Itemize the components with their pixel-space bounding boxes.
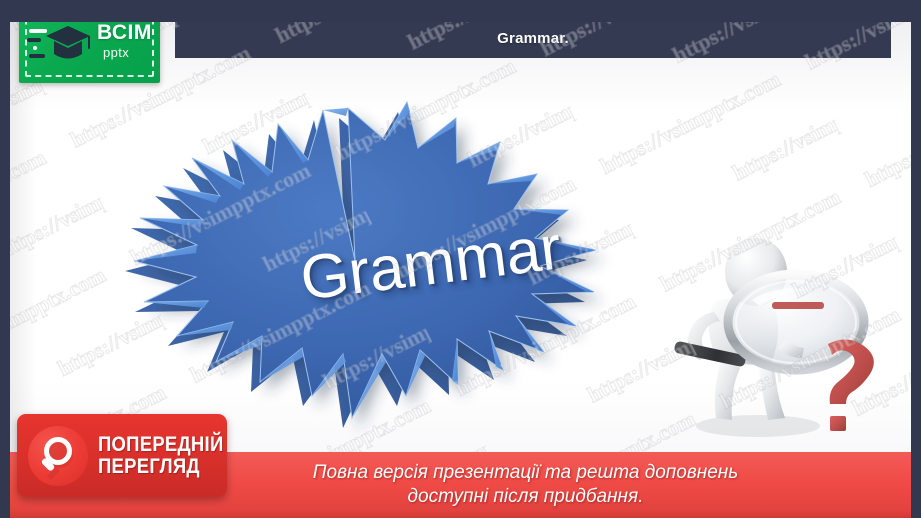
header-bar: Grammar. [175, 18, 891, 58]
banner-line-1: Повна версія презентації та решта доповн… [313, 461, 738, 485]
person-with-magnifier-icon [660, 230, 890, 445]
page-title: Grammar. [497, 30, 569, 47]
banner-line-2: доступні після придбання. [313, 485, 738, 509]
frame-edge-right [911, 0, 921, 518]
logo-brand-text: ВСІМ [97, 22, 152, 43]
frame-edge-left [0, 0, 10, 518]
frame-edge-top [0, 0, 921, 22]
logo-sub-text: pptx [103, 46, 129, 59]
slide-canvas: Grammar [0, 0, 921, 518]
graduation-cap-icon [45, 24, 91, 64]
preview-badge-line-1: ПОПЕРЕДНІЙ [98, 434, 223, 456]
magnifier-icon [28, 426, 88, 486]
preview-badge[interactable]: ПОПЕРЕДНІЙ ПЕРЕГЛЯД [17, 414, 227, 497]
preview-badge-line-2: ПЕРЕГЛЯД [98, 456, 223, 478]
